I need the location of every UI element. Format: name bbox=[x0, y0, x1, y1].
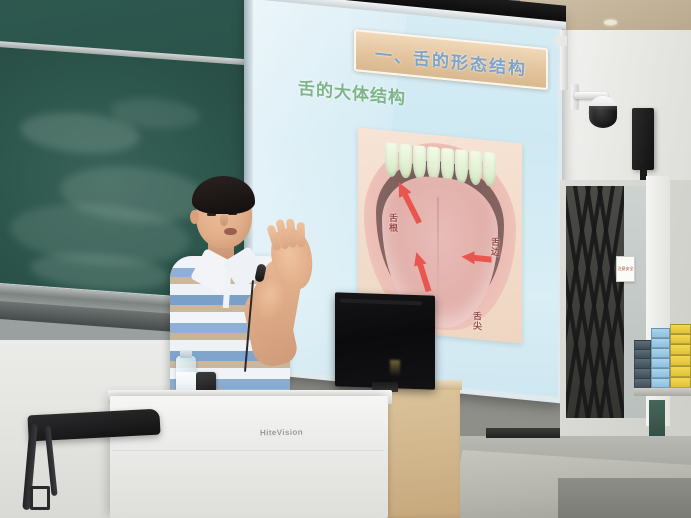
box-stack-dark bbox=[634, 340, 651, 388]
monitor-reflection bbox=[390, 360, 400, 376]
presenter-nose bbox=[220, 214, 228, 226]
label-tongue-edge: 舌边 bbox=[488, 236, 501, 257]
accordion-security-gate[interactable] bbox=[566, 186, 624, 418]
tongue-midline bbox=[437, 197, 439, 307]
box-stack-blue bbox=[651, 328, 670, 388]
label-tongue-tip: 舌尖 bbox=[470, 310, 483, 331]
presenter-mouth bbox=[224, 228, 237, 235]
presenter-ear bbox=[190, 210, 199, 224]
ceiling-light bbox=[604, 20, 617, 25]
slide-title-text: 一、舌的形态结构 bbox=[375, 40, 527, 80]
slide-subtitle: 舌的大体结构 bbox=[298, 74, 406, 110]
wall-sign: 注意安全 bbox=[616, 256, 635, 282]
baseboard bbox=[486, 428, 560, 438]
wall-speaker bbox=[632, 108, 654, 170]
podium-seam bbox=[112, 450, 384, 451]
water-bottle-cap bbox=[180, 350, 192, 358]
step-riser bbox=[558, 478, 691, 518]
podium-wood-side bbox=[386, 384, 460, 518]
label-tongue-root: 舌根 bbox=[386, 212, 399, 233]
bag-buckle bbox=[30, 486, 50, 510]
computer-monitor[interactable] bbox=[335, 292, 435, 389]
wall-sign-text: 注意安全 bbox=[618, 267, 634, 271]
podium-brand-label: HiteVision bbox=[260, 428, 303, 438]
security-camera-lens-icon bbox=[589, 106, 617, 128]
wall-fixture bbox=[555, 36, 567, 46]
classroom-scene: 一、舌的形态结构 舌的大体结构 舌根 bbox=[0, 0, 691, 518]
box-stack-yellow bbox=[670, 324, 691, 388]
